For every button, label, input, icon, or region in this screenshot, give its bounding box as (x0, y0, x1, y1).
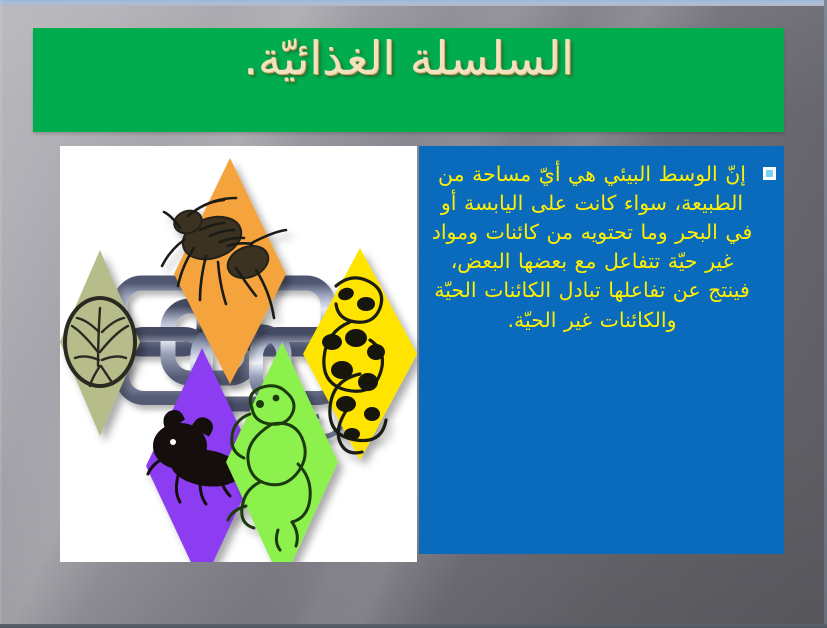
food-chain-svg (60, 146, 417, 562)
page-title: السلسلة الغذائيّة. (33, 30, 784, 88)
slide-edge-top (0, 0, 827, 6)
bullet-list-item: إنّ الوسط البيئي هي أيّ مساحة من الطبيعة… (419, 160, 784, 335)
square-bullet-icon (763, 167, 776, 180)
slide-edge-bottom (0, 624, 827, 628)
diamond-plant-leaf (60, 250, 140, 436)
body-paragraph: إنّ الوسط البيئي هي أيّ مساحة من الطبيعة… (429, 160, 755, 335)
picture-panel[interactable] (60, 146, 417, 562)
text-panel[interactable]: إنّ الوسط البيئي هي أيّ مساحة من الطبيعة… (419, 146, 784, 554)
slide-edge-left (0, 0, 2, 628)
title-banner[interactable]: السلسلة الغذائيّة. (33, 28, 784, 132)
slide: السلسلة الغذائيّة. (0, 0, 827, 628)
food-chain-illustration (60, 146, 417, 562)
